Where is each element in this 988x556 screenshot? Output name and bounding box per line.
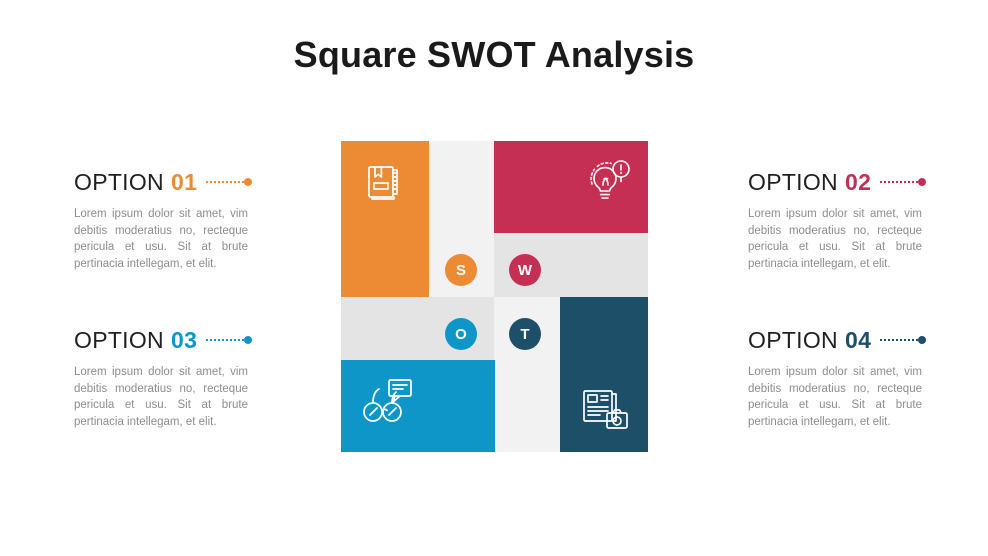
option-02-number: 02 (845, 169, 871, 196)
dotted-line-icon (206, 181, 244, 183)
panel-strengths[interactable] (341, 141, 429, 297)
page-title: Square SWOT Analysis (0, 34, 988, 76)
glasses-chat-icon (359, 374, 415, 435)
option-04-number: 04 (845, 327, 871, 354)
option-02-word: OPTION (748, 169, 838, 196)
badge-strengths[interactable]: S (445, 254, 477, 286)
panel-weaknesses[interactable] (494, 141, 648, 233)
option-03-word: OPTION (74, 327, 164, 354)
connector-line-04 (880, 336, 926, 344)
option-03-heading: OPTION 03 (74, 326, 314, 354)
option-04-word: OPTION (748, 327, 838, 354)
connector-line-01 (206, 178, 252, 186)
connector-line-03 (206, 336, 252, 344)
option-01-number: 01 (171, 169, 197, 196)
option-block-01: OPTION 01 Lorem ipsum dolor sit amet, vi… (74, 168, 314, 272)
option-04-body: Lorem ipsum dolor sit amet, vim debitis … (748, 364, 922, 430)
lightbulb-idea-icon (582, 155, 634, 212)
notebook-icon (363, 161, 405, 208)
option-block-03: OPTION 03 Lorem ipsum dolor sit amet, vi… (74, 326, 314, 430)
option-02-body: Lorem ipsum dolor sit amet, vim debitis … (748, 206, 922, 272)
dotted-line-icon (206, 339, 244, 341)
badge-opportunities-letter: O (455, 327, 467, 342)
badge-strengths-letter: S (456, 263, 466, 278)
endpoint-dot-icon (244, 178, 252, 186)
badge-threats[interactable]: T (509, 318, 541, 350)
badge-threats-letter: T (520, 327, 529, 342)
option-block-02: OPTION 02 Lorem ipsum dolor sit amet, vi… (748, 168, 988, 272)
badge-weaknesses[interactable]: W (509, 254, 541, 286)
option-02-heading: OPTION 02 (748, 168, 988, 196)
option-01-word: OPTION (74, 169, 164, 196)
option-03-body: Lorem ipsum dolor sit amet, vim debitis … (74, 364, 248, 430)
badge-weaknesses-letter: W (518, 263, 532, 278)
badge-opportunities[interactable]: O (445, 318, 477, 350)
option-04-heading: OPTION 04 (748, 326, 988, 354)
newspaper-camera-icon (580, 387, 630, 440)
connector-line-02 (880, 178, 926, 186)
dotted-line-icon (880, 339, 918, 341)
dotted-line-icon (880, 181, 918, 183)
option-01-heading: OPTION 01 (74, 168, 314, 196)
endpoint-dot-icon (918, 178, 926, 186)
endpoint-dot-icon (918, 336, 926, 344)
panel-opportunities[interactable] (341, 360, 495, 452)
endpoint-dot-icon (244, 336, 252, 344)
option-03-number: 03 (171, 327, 197, 354)
swot-grid: S W O T (341, 141, 648, 452)
option-01-body: Lorem ipsum dolor sit amet, vim debitis … (74, 206, 248, 272)
panel-threats[interactable] (560, 297, 648, 452)
option-block-04: OPTION 04 Lorem ipsum dolor sit amet, vi… (748, 326, 988, 430)
